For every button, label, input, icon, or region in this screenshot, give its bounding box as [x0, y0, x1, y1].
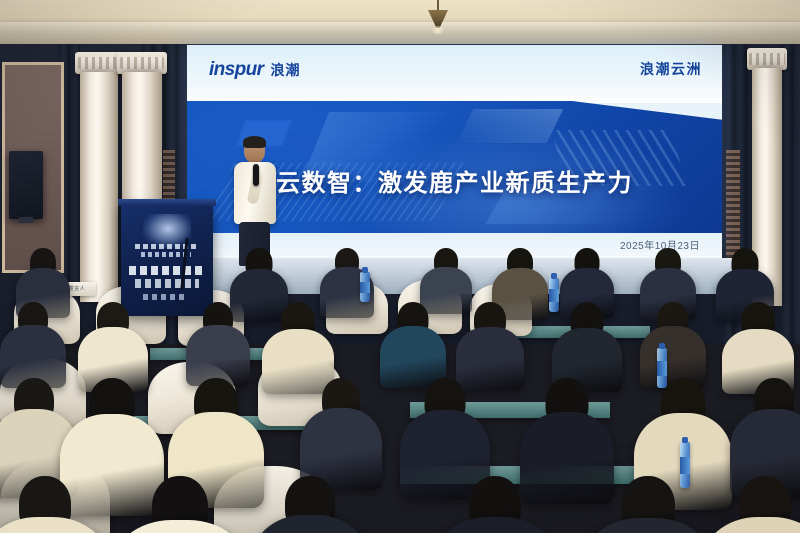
- deer-emblem-icon: [143, 214, 191, 248]
- audience-area: 发言人: [0, 230, 800, 533]
- inspur-logo-cn: 浪潮: [270, 60, 300, 80]
- water-bottle: [360, 272, 370, 302]
- lectern-headline-2: [135, 279, 199, 288]
- presentation-photo: inspur 浪潮 浪潮云洲 云数智：激发鹿产业新质生产力 2025年10月23…: [0, 0, 800, 533]
- water-bottle-label: [360, 282, 370, 293]
- water-bottle: [657, 348, 667, 388]
- speaker-presenter: [228, 138, 280, 266]
- audience-person: [430, 476, 560, 533]
- ceiling-beam: [0, 22, 800, 44]
- audience-person: [110, 476, 250, 533]
- audience-person: [456, 302, 524, 390]
- audience-person: [700, 476, 800, 533]
- audience-person: [580, 476, 715, 533]
- audience-person: [380, 302, 446, 388]
- column-capital: [117, 52, 167, 74]
- audience-person: [186, 302, 250, 386]
- water-bottle-label: [549, 289, 559, 302]
- water-bottle: [549, 278, 559, 312]
- audience-person: [0, 302, 66, 388]
- pendant-light-glow: [432, 26, 444, 34]
- column-capital: [747, 48, 787, 70]
- audience-person-body: [110, 520, 250, 533]
- inspur-logo-word: inspur: [209, 59, 263, 81]
- audience-person: [640, 302, 706, 388]
- tech-graphic-f: [457, 109, 564, 143]
- wall-monitor-stand: [19, 217, 33, 223]
- yunzhou-logo: 浪潮云洲: [640, 59, 702, 79]
- audience-person-body: [430, 517, 560, 533]
- audience-person-body: [700, 517, 800, 533]
- lectern-headline-1: [129, 266, 205, 275]
- water-bottle: [680, 442, 690, 488]
- water-bottle-label: [657, 361, 667, 376]
- audience-person: [300, 378, 382, 490]
- audience-person-body: [580, 518, 715, 533]
- audience-person-body: [0, 517, 110, 533]
- audience-person-body: [186, 325, 250, 386]
- lectern-banner: [121, 204, 213, 316]
- column-capital: [75, 52, 123, 74]
- inspur-logo: inspur 浪潮: [209, 59, 300, 81]
- audience-person-body: [250, 515, 370, 533]
- lectern-top-edge: [118, 199, 216, 206]
- lectern-headline-3: [143, 294, 187, 300]
- microphone-icon: [253, 164, 259, 186]
- audience-person: [0, 476, 110, 533]
- audience-person: [250, 476, 370, 533]
- water-bottle-label: [680, 457, 690, 474]
- speaker-hair: [243, 136, 266, 148]
- wall-monitor: [9, 151, 43, 219]
